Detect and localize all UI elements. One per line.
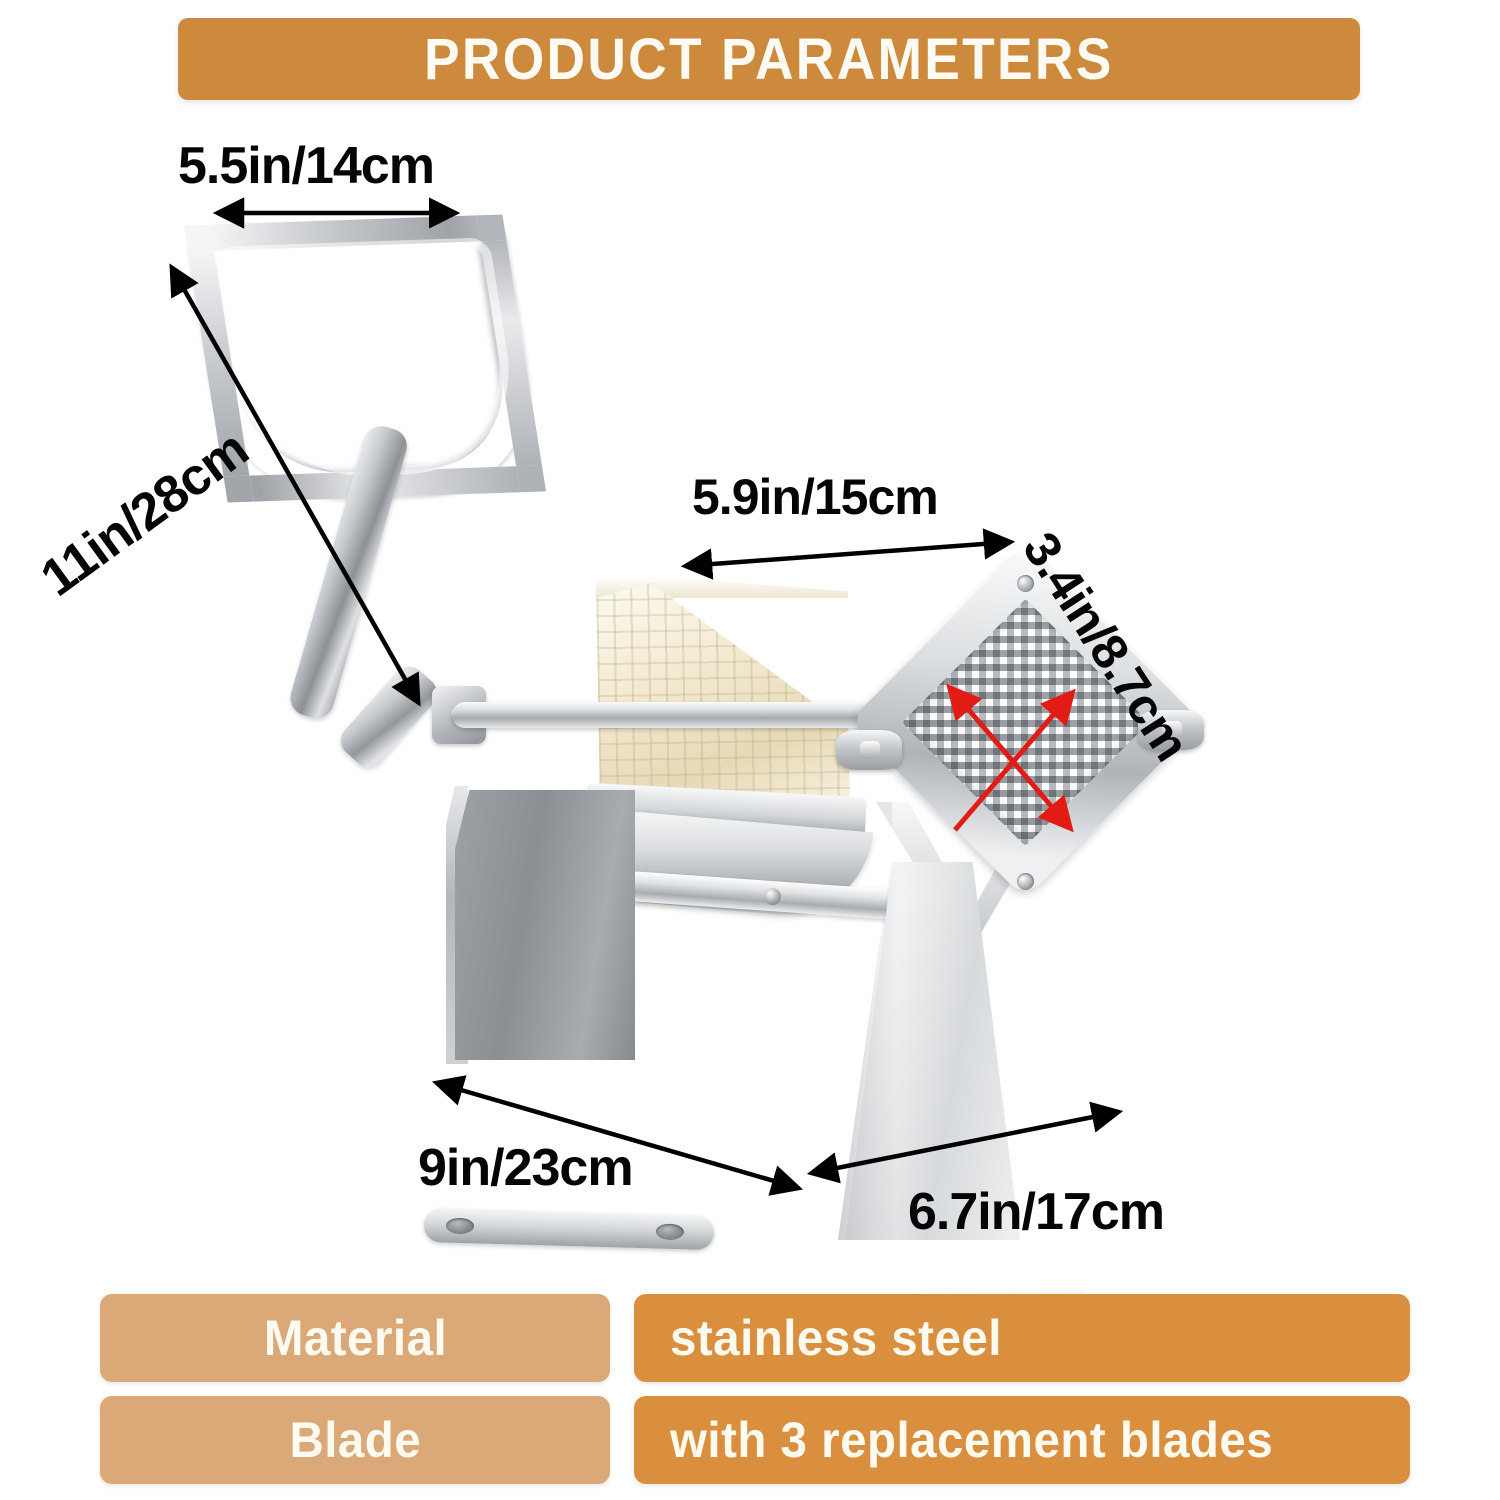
spec-table: Material stainless steel Blade with 3 re… bbox=[100, 1294, 1410, 1484]
spec-value-label: with 3 replacement blades bbox=[670, 1411, 1273, 1469]
dimension-label-handle-width: 5.5in/14cm bbox=[178, 136, 434, 196]
blade-assembly bbox=[860, 555, 1190, 965]
spec-value-label: stainless steel bbox=[670, 1309, 1002, 1367]
spec-key-label: Material bbox=[263, 1309, 446, 1367]
spec-row-blade: Blade with 3 replacement blades bbox=[100, 1396, 1410, 1484]
left-support-plate bbox=[455, 790, 635, 1060]
mounting-hole-icon bbox=[446, 1218, 474, 1235]
slide-rail bbox=[452, 702, 872, 728]
product-parameters-banner: PRODUCT PARAMETERS bbox=[178, 18, 1360, 100]
spec-key-material: Material bbox=[100, 1294, 610, 1382]
left-base-foot bbox=[424, 1208, 715, 1250]
spec-row-material: Material stainless steel bbox=[100, 1294, 1410, 1382]
dimension-label-base-length: 9in/23cm bbox=[418, 1138, 633, 1198]
page-title: PRODUCT PARAMETERS bbox=[424, 26, 1114, 93]
spec-key-blade: Blade bbox=[100, 1396, 610, 1484]
pusher-block-icon bbox=[596, 580, 850, 809]
product-image bbox=[0, 190, 1500, 1170]
spec-key-label: Blade bbox=[289, 1411, 421, 1469]
handle-stem-lower bbox=[334, 660, 443, 774]
spec-value-blade: with 3 replacement blades bbox=[634, 1396, 1410, 1484]
mounting-hole-icon bbox=[656, 1223, 684, 1240]
spec-value-material: stainless steel bbox=[634, 1294, 1410, 1382]
wing-nut-icon bbox=[836, 730, 902, 770]
frame-rivet-icon bbox=[1017, 873, 1034, 890]
dimension-label-chute-length: 5.9in/15cm bbox=[692, 468, 938, 526]
dimension-label-base-depth: 6.7in/17cm bbox=[908, 1182, 1164, 1242]
